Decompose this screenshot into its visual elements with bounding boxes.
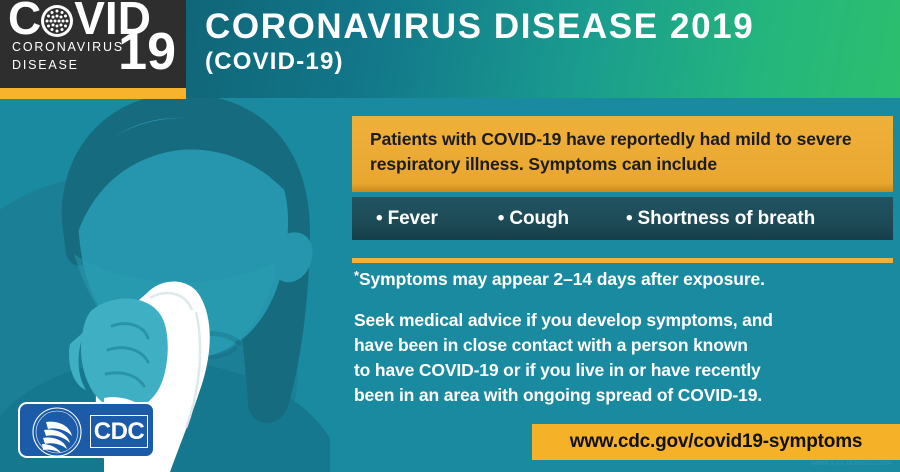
symptom-label-shortness-of-breath: Shortness of breath [638, 208, 816, 229]
advice-line-3: to have COVID-19 or if you live in or ha… [354, 358, 900, 383]
symptom-label-fever: Fever [388, 208, 438, 229]
advice-line-2: have been in close contact with a person… [354, 333, 900, 358]
symptom-onset-footnote: *Symptoms may appear 2–14 days after exp… [354, 268, 899, 290]
cdc-url-text: www.cdc.gov/covid19-symptoms [570, 431, 863, 453]
symptoms-list: •Fever •Cough •Shortness of breath [352, 197, 893, 240]
virus-icon-svg [40, 4, 74, 38]
covid-logo-caption-line2: DISEASE [12, 56, 124, 74]
covid-logo-accent-bar [0, 88, 186, 99]
covid19-symptoms-infographic: CORONAVIRUS DISEASE 2019 (COVID-19) [0, 0, 900, 472]
symptom-item-cough: •Cough [498, 208, 569, 230]
covid-logo-caption-line1: CORONAVIRUS [12, 38, 124, 56]
bullet-icon: • [498, 208, 505, 229]
footnote-text: Symptoms may appear 2–14 days after expo… [359, 269, 765, 289]
symptom-label-cough: Cough [509, 208, 569, 229]
cdc-wordmark: CDC [90, 415, 148, 448]
symptom-item-fever: •Fever [376, 208, 438, 230]
symptom-item-shortness-of-breath: •Shortness of breath [626, 208, 815, 230]
source-fineprint: MMWR & Vol. 69 2020-03-12 894 [811, 461, 892, 467]
symptoms-list-bar: •Fever •Cough •Shortness of breath [352, 197, 893, 240]
cdc-url-button[interactable]: www.cdc.gov/covid19-symptoms [532, 424, 900, 460]
symptoms-callout-text: Patients with COVID-19 have reportedly h… [370, 127, 877, 177]
advice-line-1: Seek medical advice if you develop sympt… [354, 308, 900, 333]
page-subtitle: (COVID-19) [205, 48, 344, 76]
hhs-seal-icon [28, 406, 86, 458]
page-title: CORONAVIRUS DISEASE 2019 [205, 9, 754, 45]
bullet-icon: • [376, 208, 383, 229]
covid-logo-year: 19 [118, 26, 176, 78]
advice-line-4: been in an area with ongoing spread of C… [354, 383, 900, 408]
covid-logo-caption: CORONAVIRUS DISEASE [12, 38, 124, 74]
medical-advice-paragraph: Seek medical advice if you develop sympt… [354, 308, 900, 408]
cdc-logo: CDC [18, 402, 155, 458]
covid19-logo: CVID CORONAVIRUS DISEASE 19 [0, 0, 186, 88]
virus-icon [40, 4, 74, 38]
symptoms-callout-box: Patients with COVID-19 have reportedly h… [352, 116, 893, 192]
section-divider [352, 258, 893, 263]
bullet-icon: • [626, 208, 633, 229]
